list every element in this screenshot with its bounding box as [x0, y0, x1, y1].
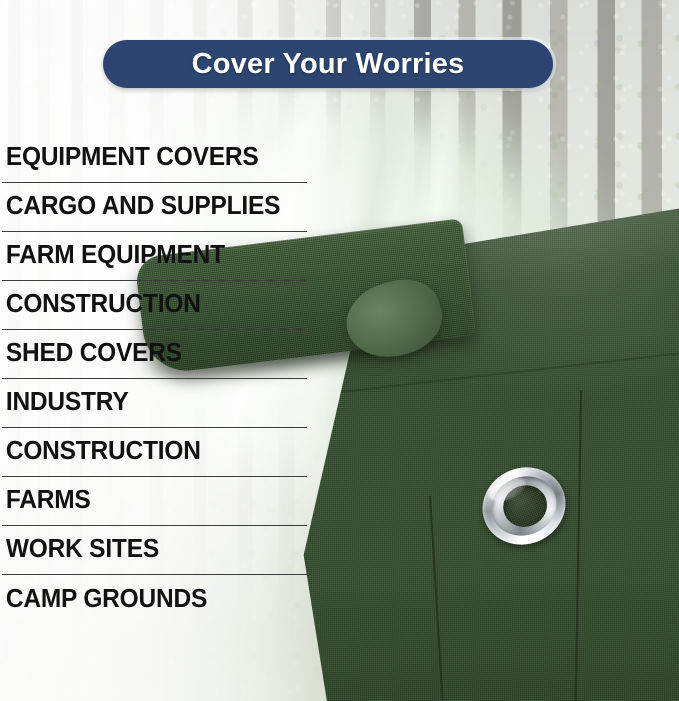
feature-label: CONSTRUCTION [2, 292, 201, 318]
list-item: CAMP GROUNDS [2, 575, 307, 624]
list-item: EQUIPMENT COVERS [2, 134, 307, 183]
list-item: CONSTRUCTION [2, 281, 307, 330]
feature-label: SHED COVERS [2, 341, 182, 367]
headline-text: Cover Your Worries [192, 48, 465, 81]
feature-label: EQUIPMENT COVERS [2, 145, 258, 171]
feature-label: FARM EQUIPMENT [2, 243, 225, 269]
product-feature-poster: Cover Your Worries EQUIPMENT COVERS CARG… [0, 0, 679, 701]
list-item: WORK SITES [2, 526, 307, 575]
list-item: CONSTRUCTION [2, 428, 307, 477]
list-item: FARMS [2, 477, 307, 526]
list-item: CARGO AND SUPPLIES [2, 183, 307, 232]
feature-label: FARMS [2, 488, 91, 514]
feature-label: INDUSTRY [2, 390, 129, 416]
feature-list: EQUIPMENT COVERS CARGO AND SUPPLIES FARM… [2, 134, 307, 624]
feature-label: WORK SITES [2, 537, 159, 563]
headline-banner: Cover Your Worries [103, 40, 553, 88]
list-item: SHED COVERS [2, 330, 307, 379]
feature-label: CARGO AND SUPPLIES [2, 194, 280, 220]
list-item: INDUSTRY [2, 379, 307, 428]
feature-label: CAMP GROUNDS [2, 587, 207, 613]
feature-label: CONSTRUCTION [2, 439, 201, 465]
list-item: FARM EQUIPMENT [2, 232, 307, 281]
